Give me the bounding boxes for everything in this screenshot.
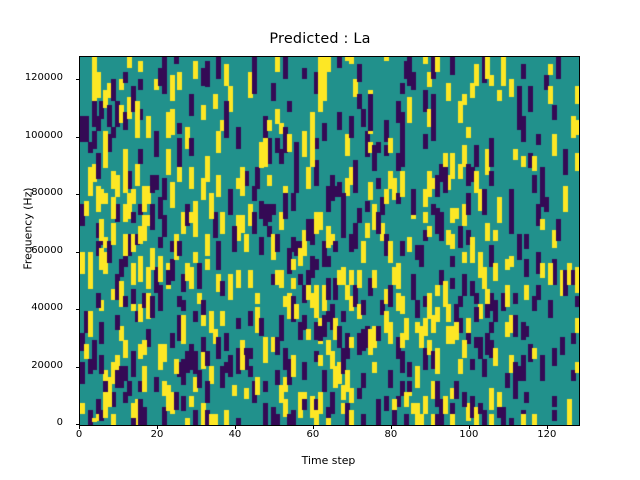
y-tick-label: 120000: [25, 72, 63, 83]
y-tick-mark: [76, 79, 80, 80]
y-tick-mark: [76, 367, 80, 368]
x-tick-label: 100: [459, 429, 478, 440]
y-axis-label: Frequency (Hz): [22, 149, 35, 309]
y-tick-label: 80000: [31, 187, 63, 198]
y-tick-mark: [76, 137, 80, 138]
x-tick-mark: [547, 425, 548, 429]
x-tick-label: 80: [385, 429, 398, 440]
x-axis-label: Time step: [79, 454, 578, 467]
y-tick-label: 60000: [31, 245, 63, 256]
y-tick-label: 100000: [25, 130, 63, 141]
x-tick-label: 40: [229, 429, 242, 440]
x-tick-label: 20: [151, 429, 164, 440]
x-tick-mark: [469, 425, 470, 429]
y-tick-label: 0: [57, 417, 63, 428]
heatmap-axes: [79, 56, 580, 426]
y-tick-mark: [76, 252, 80, 253]
y-tick-label: 40000: [31, 302, 63, 313]
y-tick-mark: [76, 194, 80, 195]
x-tick-mark: [313, 425, 314, 429]
y-tick-label: 20000: [31, 360, 63, 371]
heatmap-image: [80, 57, 579, 425]
x-tick-label: 120: [537, 429, 556, 440]
y-tick-mark: [76, 309, 80, 310]
x-tick-label: 60: [307, 429, 320, 440]
x-tick-mark: [391, 425, 392, 429]
x-tick-mark: [79, 425, 80, 429]
x-tick-mark: [235, 425, 236, 429]
chart-title: Predicted : La: [0, 31, 640, 47]
x-tick-mark: [157, 425, 158, 429]
matplotlib-figure: Predicted : La 0200004000060000800001000…: [0, 0, 640, 480]
x-tick-label: 0: [76, 429, 82, 440]
